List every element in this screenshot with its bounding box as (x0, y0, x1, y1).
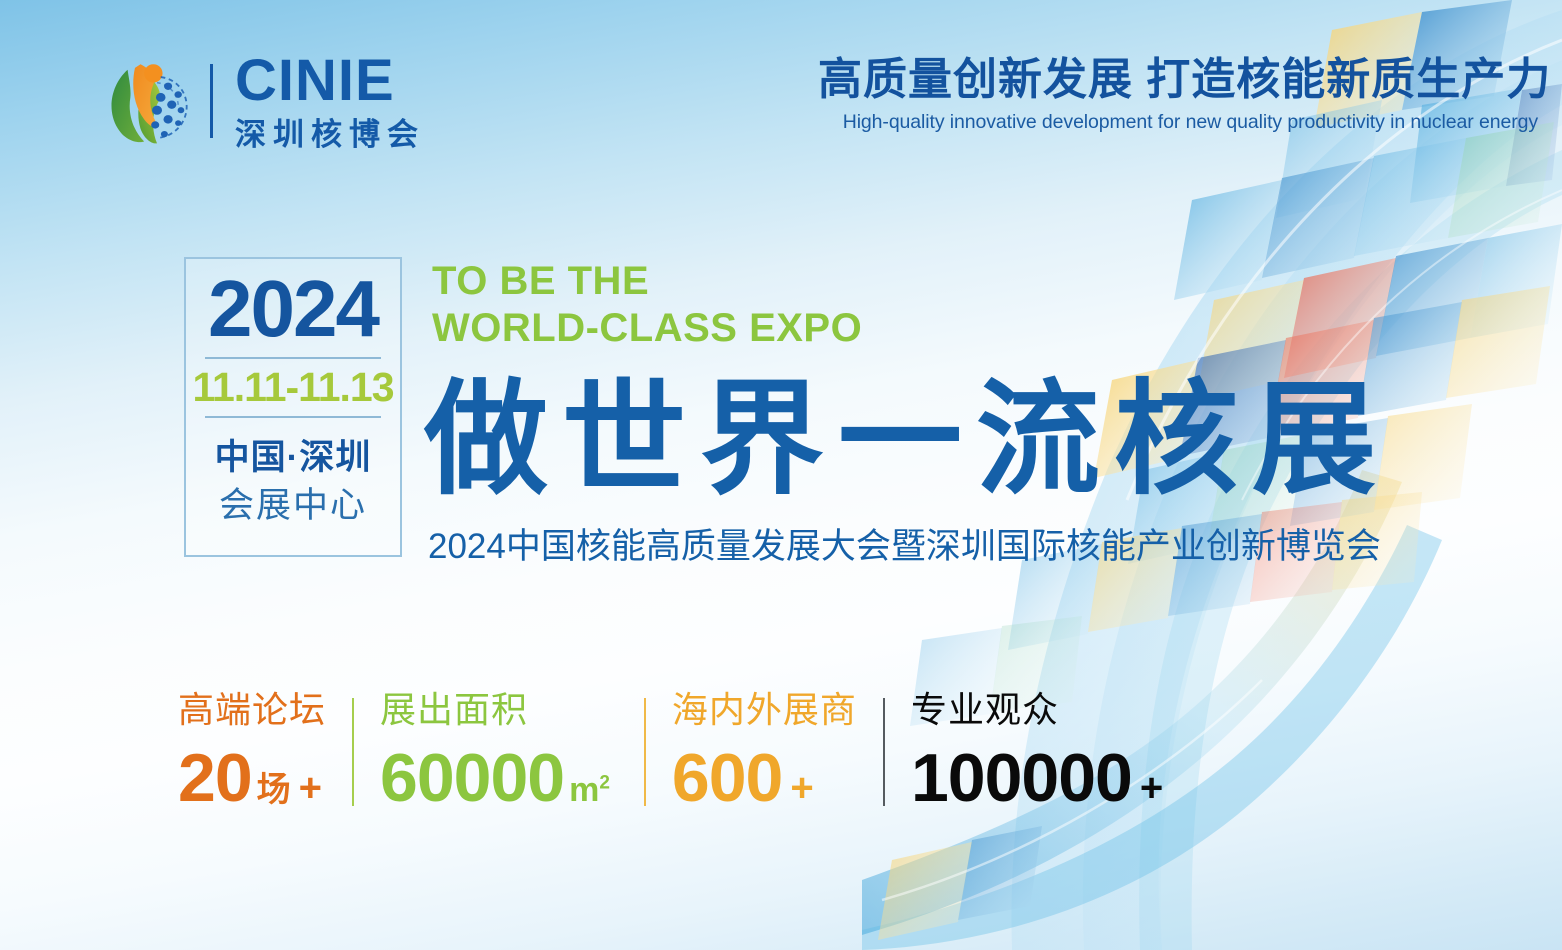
stat-visitors: 专业观众 100000 + (911, 692, 1163, 812)
stat-area: 展出面积 60000 m2 (380, 692, 618, 812)
slogan-english: TO BE THE WORLD-CLASS EXPO (432, 258, 862, 352)
stat-separator-3 (883, 698, 885, 806)
stat-area-value: 60000 m2 (380, 744, 618, 812)
headline: 高质量创新发展 打造核能新质生产力 High-quality innovativ… (818, 55, 1538, 134)
stat-exhibitors-label: 海内外展商 (672, 692, 857, 728)
event-full-name: 2024中国核能高质量发展大会暨深圳国际核能产业创新博览会 (428, 518, 1381, 569)
cinie-leaf-globe-logo-icon (100, 53, 192, 149)
stat-forums: 高端论坛 20 场 + (178, 692, 326, 812)
stat-visitors-number: 100000 (911, 744, 1132, 812)
stat-separator-2 (644, 698, 646, 806)
logo-name-en: CINIE (235, 52, 425, 110)
stat-exhibitors-value: 600 + (672, 744, 857, 812)
stats-row: 高端论坛 20 场 + 展出面积 60000 m2 海内外展商 600 + (178, 692, 1163, 812)
logo-wordmark: CINIE 深圳核博会 (235, 52, 425, 150)
stat-exhibitors-number: 600 (672, 744, 782, 812)
stat-separator-1 (352, 698, 354, 806)
headline-cn: 高质量创新发展 打造核能新质生产力 (818, 55, 1538, 104)
stat-visitors-suffix: + (1140, 768, 1163, 808)
stat-area-unit: m2 (569, 773, 610, 807)
logo-divider (210, 64, 213, 138)
stat-forums-number: 20 (178, 744, 252, 812)
slogan-chinese: 做世界一流核展 (424, 378, 1390, 502)
stat-area-number: 60000 (380, 744, 564, 812)
promo-banner: CINIE 深圳核博会 高质量创新发展 打造核能新质生产力 High-quali… (0, 0, 1562, 950)
logo-name-cn: 深圳核博会 (235, 119, 425, 150)
stat-forums-label: 高端论坛 (178, 692, 326, 728)
stat-forums-value: 20 场 + (178, 744, 326, 812)
event-year: 2024 (208, 269, 378, 349)
slogan-en-line1: TO BE THE (432, 258, 862, 305)
stat-area-label: 展出面积 (380, 692, 618, 728)
stat-visitors-label: 专业观众 (911, 692, 1163, 728)
stat-forums-unit: 场 (257, 773, 291, 807)
event-date-range: 11.11-11.13 (192, 367, 393, 408)
stat-forums-suffix: + (299, 768, 322, 808)
event-venue: 会展中心 (219, 485, 367, 527)
headline-en: High-quality innovative development for … (818, 111, 1538, 134)
stat-exhibitors-suffix: + (790, 768, 813, 808)
date-divider-top (205, 357, 381, 359)
event-city: 中国·深圳 (215, 437, 372, 480)
stat-visitors-value: 100000 + (911, 744, 1163, 812)
stat-exhibitors: 海内外展商 600 + (672, 692, 857, 812)
slogan-en-line2: WORLD-CLASS EXPO (432, 305, 862, 352)
date-divider-bottom (205, 416, 381, 418)
stat-area-exponent: 2 (599, 773, 610, 794)
cinie-logo[interactable]: CINIE 深圳核博会 (100, 52, 425, 150)
date-venue-box: 2024 11.11-11.13 中国·深圳 会展中心 (184, 257, 402, 557)
